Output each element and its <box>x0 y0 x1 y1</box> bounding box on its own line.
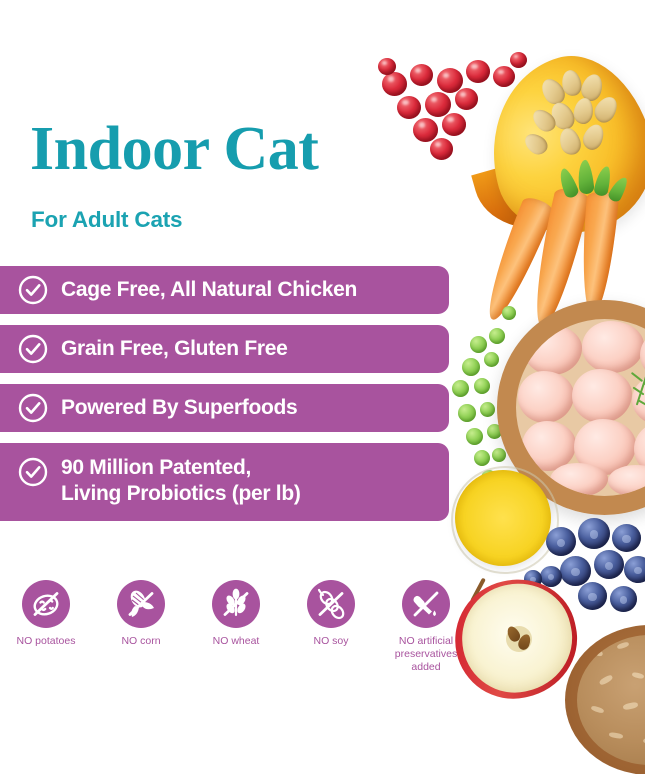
feature-bar: Grain Free, Gluten Free <box>0 325 449 373</box>
feature-label: Grain Free, Gluten Free <box>61 336 288 362</box>
check-circle-icon <box>18 457 48 487</box>
free-from-badge: NO wheat <box>202 580 270 673</box>
feature-bar: Cage Free, All Natural Chicken <box>0 266 449 314</box>
no-soy-icon <box>307 580 355 628</box>
badge-label: NO soy <box>313 635 348 648</box>
feature-list: Cage Free, All Natural Chicken Grain Fre… <box>0 266 449 532</box>
free-from-badge-list: NO potatoes NO cor <box>12 580 460 673</box>
feature-bar: 90 Million Patented, Living Probiotics (… <box>0 443 449 521</box>
check-circle-icon <box>18 334 48 364</box>
page-subtitle: For Adult Cats <box>31 207 182 233</box>
feature-label: 90 Million Patented, Living Probiotics (… <box>61 455 301 508</box>
check-circle-icon <box>18 393 48 423</box>
free-from-badge: NO soy <box>297 580 365 673</box>
badge-label: NO wheat <box>213 635 260 648</box>
badge-label: NO corn <box>121 635 160 648</box>
product-infographic: Indoor Cat For Adult Cats Cage Free, All… <box>0 0 645 774</box>
badge-label: NO potatoes <box>17 635 76 648</box>
no-wheat-icon <box>212 580 260 628</box>
feature-label: Powered By Superfoods <box>61 395 297 421</box>
page-title: Indoor Cat <box>30 118 318 180</box>
no-potato-icon <box>22 580 70 628</box>
badge-label: NO artificial preservatives added <box>395 635 457 673</box>
no-corn-icon <box>117 580 165 628</box>
check-circle-icon <box>18 275 48 305</box>
feature-label: Cage Free, All Natural Chicken <box>61 277 357 303</box>
free-from-badge: NO artificial preservatives added <box>392 580 460 673</box>
free-from-badge: NO potatoes <box>12 580 80 673</box>
free-from-badge: NO corn <box>107 580 175 673</box>
feature-bar: Powered By Superfoods <box>0 384 449 432</box>
no-dropper-icon <box>402 580 450 628</box>
